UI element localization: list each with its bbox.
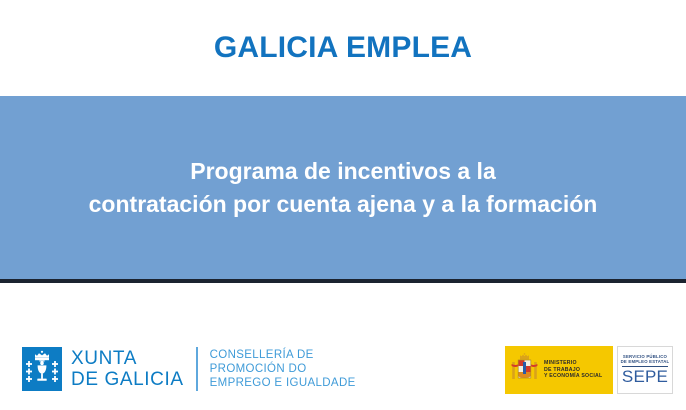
page-header: GALICIA EMPLEA	[0, 0, 686, 96]
program-banner-line-1: Programa de incentivos a la	[89, 155, 598, 188]
spain-coat-of-arms	[511, 353, 538, 387]
ministerio-label: MINISTERIO DE TRABAJO Y ECONOMÍA SOCIAL	[544, 360, 602, 380]
conselleria-line-3: EMPREGO E IGUALDADE	[210, 376, 356, 390]
program-banner: Programa de incentivos a la contratación…	[0, 96, 686, 283]
sepe-acronym: SEPE	[622, 368, 668, 386]
page-title: GALICIA EMPLEA	[214, 31, 472, 65]
xunta-wordmark-line-1: XUNTA	[71, 348, 184, 369]
xunta-wordmark-line-2: DE GALICIA	[71, 369, 184, 390]
sepe-subtitle-line-2: DE EMPLEO ESTATAL	[621, 359, 670, 364]
logo-divider	[196, 347, 198, 391]
conselleria-line-2: PROMOCIÓN DO	[210, 362, 356, 376]
program-banner-text: Programa de incentivos a la contratación…	[75, 155, 612, 220]
footer-logos: XUNTA DE GALICIA CONSELLERÍA DE PROMOCIÓ…	[0, 287, 686, 410]
sepe-logo: SERVICIO PÚBLICO DE EMPLEO ESTATAL SEPE	[617, 346, 673, 394]
xunta-de-galicia-chalice-emblem	[22, 347, 62, 391]
program-banner-line-2: contratación por cuenta ajena y a la for…	[89, 188, 598, 221]
sepe-subtitle: SERVICIO PÚBLICO DE EMPLEO ESTATAL	[621, 354, 670, 365]
ministerio-line-1: MINISTERIO	[544, 360, 602, 367]
ministerio-trabajo-logo: MINISTERIO DE TRABAJO Y ECONOMÍA SOCIAL	[505, 346, 613, 394]
conselleria-line-1: CONSELLERÍA DE	[210, 348, 356, 362]
conselleria-label: CONSELLERÍA DE PROMOCIÓN DO EMPREGO E IG…	[210, 348, 356, 390]
ministerio-line-3: Y ECONOMÍA SOCIAL	[544, 373, 602, 380]
xunta-de-galicia-logo: XUNTA DE GALICIA CONSELLERÍA DE PROMOCIÓ…	[22, 347, 356, 391]
xunta-wordmark: XUNTA DE GALICIA	[71, 348, 184, 390]
